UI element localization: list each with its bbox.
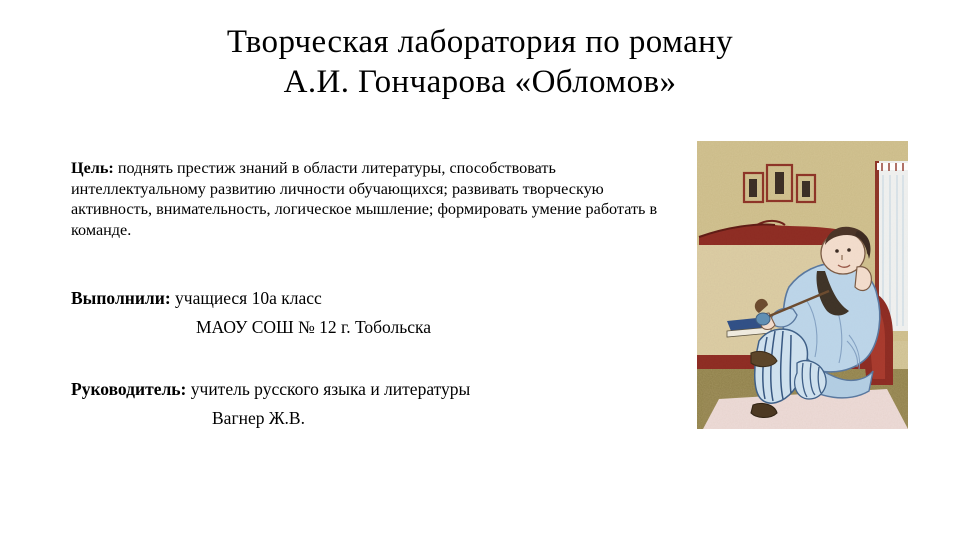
title-line-1: Творческая лаборатория по роману bbox=[0, 22, 960, 62]
goal-paragraph: Цель: поднять престиж знаний в области л… bbox=[71, 158, 681, 240]
page-title: Творческая лаборатория по роману А.И. Го… bbox=[0, 22, 960, 102]
supervisor-line-1: Руководитель: учитель русского языка и л… bbox=[71, 379, 470, 399]
performers-label: Выполнили: bbox=[71, 288, 171, 308]
performers-block: Выполнили: учащиеся 10а класс МАОУ СОШ №… bbox=[71, 284, 681, 342]
oblomov-illustration-svg bbox=[697, 141, 908, 429]
supervisor-line-2: Вагнер Ж.В. bbox=[71, 404, 681, 433]
goal-label: Цель: bbox=[71, 159, 114, 177]
oblomov-illustration bbox=[697, 141, 908, 429]
supervisor-text: учитель русского языка и литературы bbox=[186, 379, 470, 399]
body-text-column: Цель: поднять престиж знаний в области л… bbox=[71, 142, 681, 433]
title-line-2: А.И. Гончарова «Обломов» bbox=[0, 62, 960, 102]
performers-line-2: МАОУ СОШ № 12 г. Тобольска bbox=[71, 313, 681, 342]
supervisor-label: Руководитель: bbox=[71, 379, 186, 399]
supervisor-block: Руководитель: учитель русского языка и л… bbox=[71, 375, 681, 433]
performers-text: учащиеся 10а класс bbox=[171, 288, 322, 308]
performers-line-1: Выполнили: учащиеся 10а класс bbox=[71, 288, 322, 308]
slide-root: Творческая лаборатория по роману А.И. Го… bbox=[0, 0, 960, 540]
goal-text: поднять престиж знаний в области литерат… bbox=[71, 159, 657, 239]
